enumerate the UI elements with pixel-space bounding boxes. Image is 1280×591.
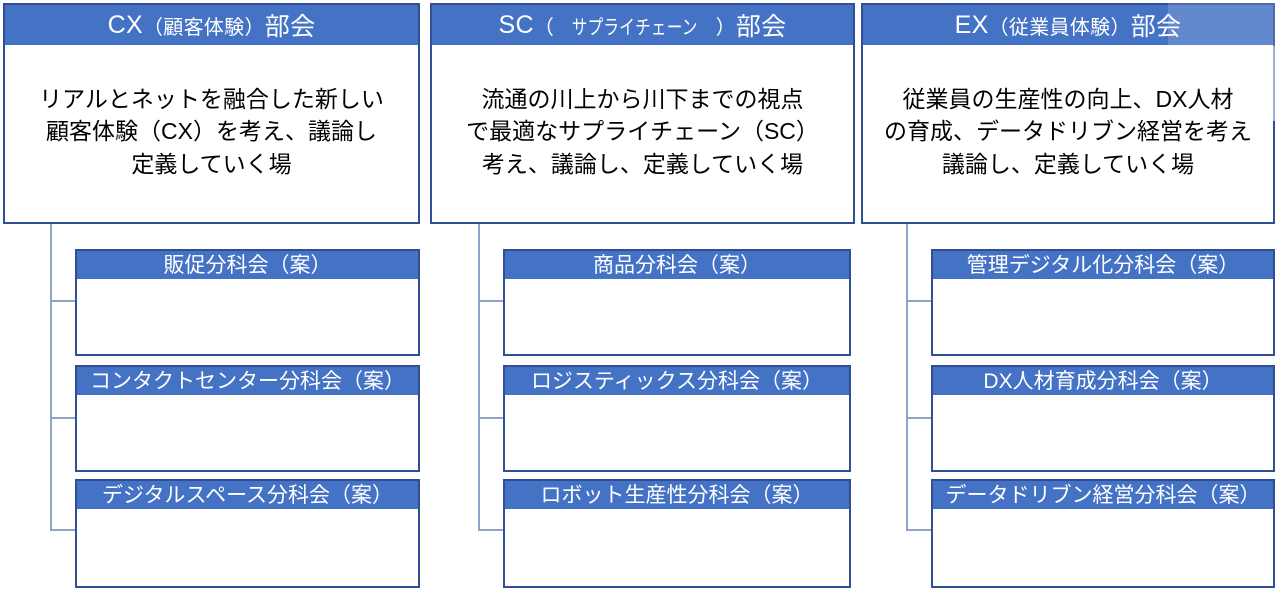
parent-header-sub-sc: サプライチェーン [572, 11, 698, 40]
parent-description-cx: リアルとネットを融合した新しい 顧客体験（CX）を考え、議論し 定義していく場 [13, 83, 410, 181]
sub-card-ex-2[interactable]: DX人材育成分科会（案） [931, 365, 1275, 472]
parent-header-paren-close-sc: ） [716, 11, 736, 40]
sub-body-cx-2 [77, 395, 418, 470]
parent-body-sc: 流通の川上から川下までの視点 で最適なサプライチェーン（SC） 考え、議論し、定… [432, 45, 853, 222]
sub-body-sc-3 [505, 509, 849, 586]
sub-body-cx-3 [77, 509, 418, 586]
sub-header-ex-2: DX人材育成分科会（案） [933, 367, 1273, 395]
sub-card-cx-2[interactable]: コンタクトセンター分科会（案） [75, 365, 420, 472]
sub-header-sc-3: ロボット生産性分科会（案） [505, 481, 849, 509]
sub-header-ex-3: データドリブン経営分科会（案） [933, 481, 1273, 509]
parent-header-paren-open-ex: （ [989, 11, 1009, 40]
sub-card-cx-1[interactable]: 販促分科会（案） [75, 249, 420, 356]
parent-body-ex: 従業員の生産性の向上、DX人材 の育成、データドリブン経営を考え 議論し、定義し… [863, 45, 1273, 222]
parent-header-paren-open-cx: （ [143, 11, 163, 40]
sub-header-sc-2: ロジスティックス分科会（案） [505, 367, 849, 395]
parent-header-main-prefix-sc: SC [499, 11, 534, 40]
parent-body-cx: リアルとネットを融合した新しい 顧客体験（CX）を考え、議論し 定義していく場 [5, 45, 418, 222]
connector-trunk-ex [906, 222, 908, 530]
parent-card-cx[interactable]: CX（顧客体験）部会 リアルとネットを融合した新しい 顧客体験（CX）を考え、議… [3, 3, 420, 224]
parent-header-main-prefix-cx: CX [108, 11, 143, 40]
parent-card-ex[interactable]: EX（従業員体験）部会 従業員の生産性の向上、DX人材 の育成、データドリブン経… [861, 3, 1275, 224]
parent-header-paren-open-sc: （ [534, 11, 554, 40]
parent-header-sc: SC（サプライチェーン）部会 [432, 5, 853, 45]
parent-description-ex: 従業員の生産性の向上、DX人材 の育成、データドリブン経営を考え 議論し、定義し… [871, 83, 1265, 181]
parent-header-sub-cx: 顧客体験 [163, 11, 244, 40]
parent-header-main-prefix-ex: EX [955, 11, 989, 40]
connector-branch-ex-2 [906, 417, 933, 419]
sub-header-cx-3: デジタルスペース分科会（案） [77, 481, 418, 509]
sub-body-sc-2 [505, 395, 849, 470]
sub-body-sc-1 [505, 279, 849, 354]
connector-trunk-sc [478, 222, 480, 530]
sub-card-ex-3[interactable]: データドリブン経営分科会（案） [931, 479, 1275, 588]
parent-card-sc[interactable]: SC（サプライチェーン）部会 流通の川上から川下までの視点 で最適なサプライチェ… [430, 3, 855, 224]
sub-card-sc-1[interactable]: 商品分科会（案） [503, 249, 851, 356]
connector-branch-sc-3 [478, 529, 505, 531]
sub-body-cx-1 [77, 279, 418, 354]
parent-description-sc: 流通の川上から川下までの視点 で最適なサプライチェーン（SC） 考え、議論し、定… [440, 83, 845, 181]
parent-header-main-suffix-sc: 部会 [736, 7, 787, 43]
diagram-canvas: CX（顧客体験）部会 リアルとネットを融合した新しい 顧客体験（CX）を考え、議… [0, 0, 1280, 591]
connector-branch-sc-2 [478, 417, 505, 419]
sub-body-ex-3 [933, 509, 1273, 586]
sub-card-sc-2[interactable]: ロジスティックス分科会（案） [503, 365, 851, 472]
connector-branch-cx-2 [50, 417, 77, 419]
connector-branch-ex-1 [906, 300, 933, 302]
sub-card-sc-3[interactable]: ロボット生産性分科会（案） [503, 479, 851, 588]
parent-header-main-suffix-cx: 部会 [265, 7, 316, 43]
connector-branch-sc-1 [478, 300, 505, 302]
parent-header-main-suffix-ex: 部会 [1131, 7, 1182, 43]
parent-header-sub-ex: 従業員体験 [1009, 11, 1111, 40]
parent-header-paren-close-cx: ） [244, 11, 264, 40]
sub-body-ex-2 [933, 395, 1273, 470]
connector-branch-cx-1 [50, 300, 77, 302]
parent-header-paren-close-ex: ） [1110, 11, 1130, 40]
connector-branch-cx-3 [50, 529, 77, 531]
parent-header-ex: EX（従業員体験）部会 [863, 5, 1273, 45]
connector-trunk-cx [50, 222, 52, 530]
sub-header-sc-1: 商品分科会（案） [505, 251, 849, 279]
sub-header-cx-1: 販促分科会（案） [77, 251, 418, 279]
sub-card-cx-3[interactable]: デジタルスペース分科会（案） [75, 479, 420, 588]
parent-header-cx: CX（顧客体験）部会 [5, 5, 418, 45]
sub-header-cx-2: コンタクトセンター分科会（案） [77, 367, 418, 395]
sub-header-ex-1: 管理デジタル化分科会（案） [933, 251, 1273, 279]
connector-branch-ex-3 [906, 529, 933, 531]
sub-body-ex-1 [933, 279, 1273, 354]
sub-card-ex-1[interactable]: 管理デジタル化分科会（案） [931, 249, 1275, 356]
